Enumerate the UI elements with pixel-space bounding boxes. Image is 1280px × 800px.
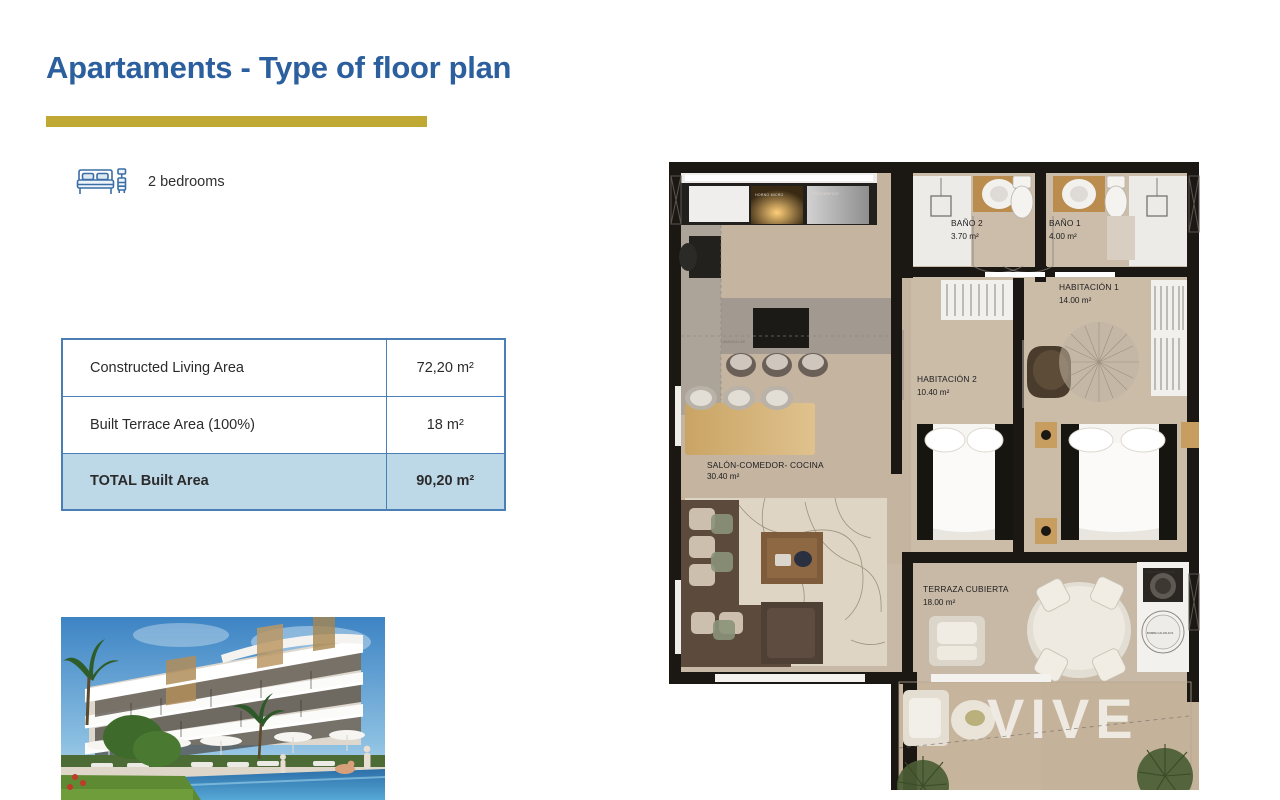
area-table: Constructed Living Area 72,20 m² Built T… (61, 338, 506, 511)
room-name: SALÓN-COMEDOR- COCINA (707, 460, 824, 470)
bed-icon (76, 166, 130, 198)
row-label: TOTAL Built Area (62, 453, 386, 510)
page-title: Apartaments - Type of floor plan (46, 50, 511, 86)
row-value: 90,20 m² (386, 453, 505, 510)
room-name: HABITACIÓN 1 (1059, 282, 1119, 292)
building-photo (61, 617, 385, 800)
room-area: 10.40 m² (917, 388, 950, 397)
row-label: Constructed Living Area (62, 339, 386, 396)
appliance-label: FRIGORIFICO (813, 192, 839, 196)
room-area: 3.70 m² (951, 232, 979, 241)
room-area: 4.00 m² (1049, 232, 1077, 241)
bedrooms-label: 2 bedrooms (148, 174, 225, 190)
appliance-label: HORNO MICRO (755, 193, 784, 197)
room-area: 30.40 m² (707, 472, 740, 481)
appliance-label: BOMBA CALOR ACS (1147, 631, 1173, 635)
room-area: 18.00 m² (923, 598, 956, 607)
room-name: BAÑO 2 (951, 218, 983, 228)
room-name: HABITACIÓN 2 (917, 374, 977, 384)
room-area: 14.00 m² (1059, 296, 1092, 305)
row-label: Built Terrace Area (100%) (62, 396, 386, 453)
slide-page: Apartaments - Type of floor plan (0, 0, 1280, 800)
bedrooms-summary: 2 bedrooms (76, 166, 225, 198)
room-name: BAÑO 1 (1049, 218, 1081, 228)
appliance-label: LAVADORA SECADORA (1145, 570, 1176, 574)
appliance-label: LAVAVAJILLAS (721, 340, 745, 344)
row-value: 72,20 m² (386, 339, 505, 396)
table-row: Constructed Living Area 72,20 m² (62, 339, 505, 396)
vive-watermark: VIVE (987, 687, 1139, 750)
table-row-total: TOTAL Built Area 90,20 m² (62, 453, 505, 510)
room-name: TERRAZA CUBIERTA (923, 584, 1009, 594)
table-row: Built Terrace Area (100%) 18 m² (62, 396, 505, 453)
row-value: 18 m² (386, 396, 505, 453)
title-accent-bar (46, 116, 427, 127)
floor-plan: HORNO MICRO FRIGORIFICO LAVAVAJILLAS (655, 150, 1215, 790)
